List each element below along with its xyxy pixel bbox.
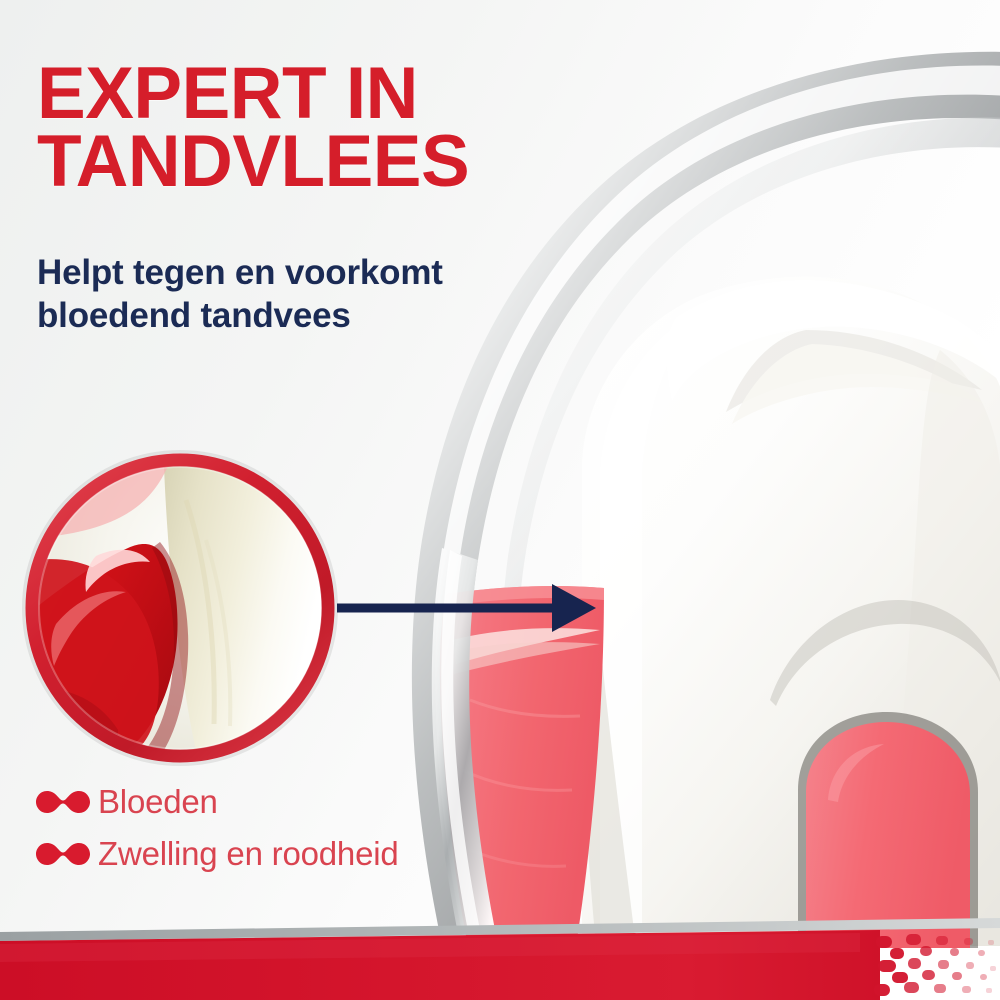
peanut-bullet-icon xyxy=(34,840,92,868)
list-item: Zwelling en roodheid xyxy=(34,828,554,880)
poster-canvas: EXPERT IN TANDVLEES Helpt tegen en voork… xyxy=(0,0,1000,1000)
peanut-bullet-icon xyxy=(34,788,92,816)
list-item-label: Bloeden xyxy=(98,783,218,821)
page-title: EXPERT IN TANDVLEES xyxy=(37,60,597,196)
symptom-list: Bloeden Zwelling en roodheid xyxy=(34,776,554,880)
list-item: Bloeden xyxy=(34,776,554,828)
list-item-label: Zwelling en roodheid xyxy=(98,835,399,873)
magnified-gum-detail xyxy=(22,450,338,766)
page-subtitle: Helpt tegen en voorkomt bloedend tandvee… xyxy=(37,252,557,337)
right-gum-papilla xyxy=(798,712,978,948)
